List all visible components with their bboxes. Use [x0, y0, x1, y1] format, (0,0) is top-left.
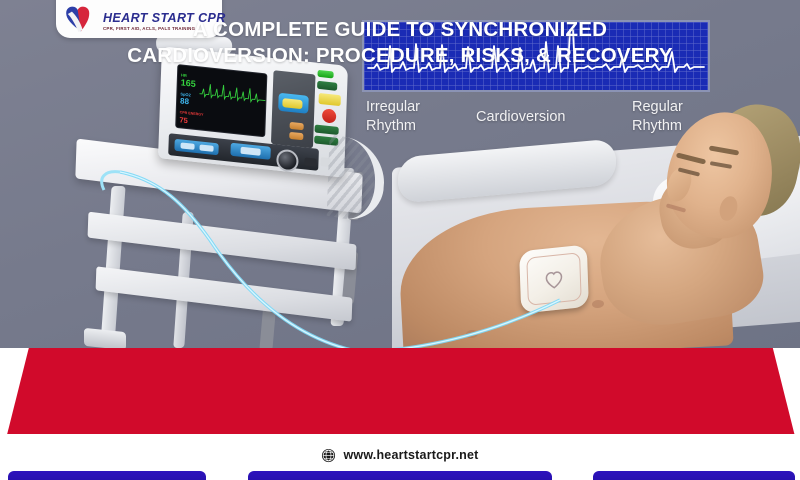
- bottom-tab-3[interactable]: [593, 471, 795, 480]
- ecg-label-regular-line1: Regular: [632, 98, 683, 117]
- bottom-tab-1[interactable]: [8, 471, 206, 480]
- defib-button-charge[interactable]: [319, 93, 341, 106]
- ecg-label-cardioversion: Cardioversion: [476, 108, 565, 127]
- poster-canvas: HR 165 SpO2 88 CPR ENERGY 75: [0, 0, 800, 480]
- title-banner: [0, 348, 800, 434]
- electrode-pad-border: [526, 252, 581, 306]
- ecg-label-regular-line2: Rhythm: [632, 117, 683, 136]
- defib-port-1: [304, 157, 316, 166]
- ecg-label-regular: Regular Rhythm: [632, 98, 683, 135]
- globe-icon: [321, 448, 336, 463]
- monitor-spo2-value: 88: [180, 97, 189, 106]
- defib-button-orange-1[interactable]: [290, 122, 304, 130]
- heart-icon: [541, 265, 568, 294]
- title-line-2: CARDIOVERSION: PROCEDURE, RISKS, & RECOV…: [127, 43, 672, 69]
- website-url-bar[interactable]: www.heartstartcpr.net: [0, 444, 800, 466]
- ecg-label-irregular-line1: Irregular: [366, 98, 420, 117]
- defib-button-orange-2[interactable]: [289, 132, 303, 140]
- bottom-tab-2[interactable]: [248, 471, 552, 480]
- website-url-text: www.heartstartcpr.net: [343, 448, 478, 462]
- monitor-energy-value: 75: [179, 116, 188, 124]
- title-line-1: A COMPLETE GUIDE TO SYNCHRONIZED: [193, 17, 607, 43]
- ecg-label-group: Irregular Rhythm Cardioversion Regular R…: [362, 96, 710, 140]
- ecg-label-irregular: Irregular Rhythm: [366, 98, 420, 135]
- electrode-pad: [519, 244, 589, 313]
- title-text-block: A COMPLETE GUIDE TO SYNCHRONIZED CARDIOV…: [0, 0, 800, 86]
- ecg-label-irregular-line2: Rhythm: [366, 117, 420, 136]
